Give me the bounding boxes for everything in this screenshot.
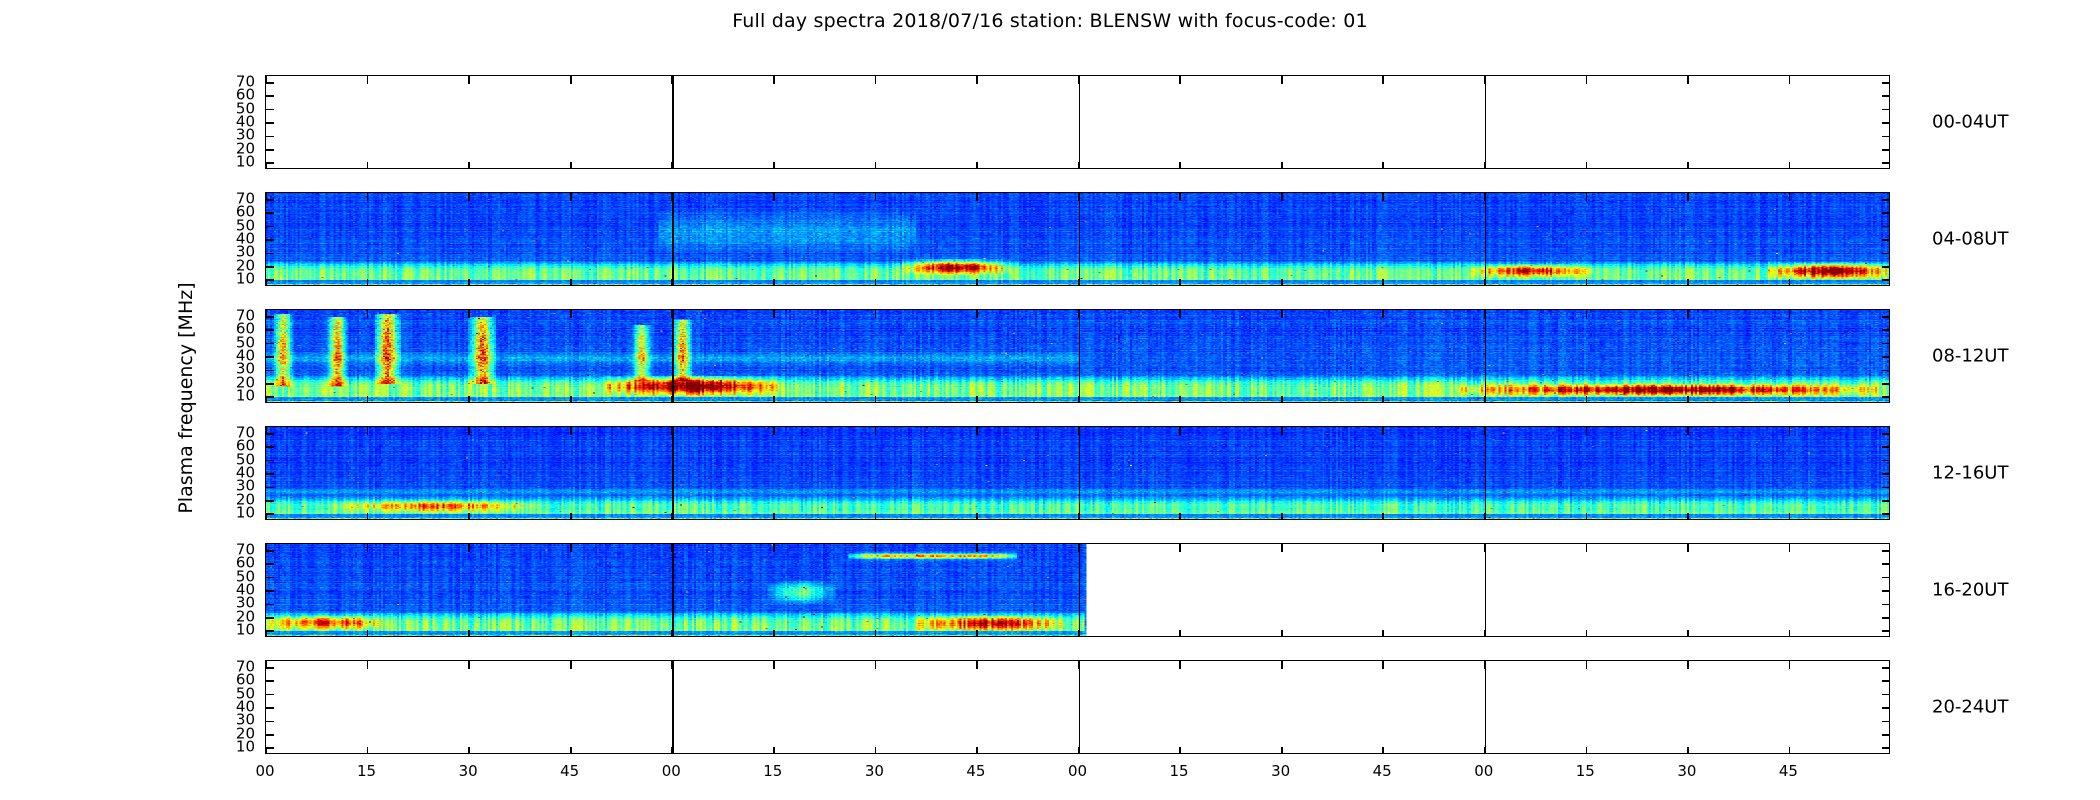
y-axis-tick-labels: 70605040302010 [203, 309, 255, 403]
x-axis-tick [367, 162, 369, 169]
x-axis-tick [570, 162, 572, 169]
grid-line [1485, 76, 1487, 168]
x-axis-tick [1078, 661, 1080, 669]
x-axis-tick [1586, 162, 1588, 169]
row-label-08-12ut: 08-12UT [1932, 346, 2008, 367]
x-axis-tick-label: 15 [763, 762, 782, 780]
x-axis-tick [875, 76, 877, 84]
spectrogram-image [266, 427, 1890, 520]
y-axis-tick [266, 82, 274, 84]
x-axis-tick [265, 76, 267, 84]
x-axis-tick [1687, 76, 1689, 84]
x-axis-tick [671, 162, 673, 169]
y-axis-tick [266, 680, 274, 682]
y-axis-tick [1882, 136, 1890, 138]
y-axis-tick [1882, 122, 1890, 124]
spectrogram-image [266, 544, 1890, 637]
x-axis-tick [367, 747, 369, 754]
y-axis-tick [1882, 149, 1890, 151]
y-axis-tick-label: 10 [236, 155, 255, 170]
spectrogram-panel-16-20ut [265, 543, 1890, 637]
row-label-16-20ut: 16-20UT [1932, 580, 2008, 601]
y-axis-tick-labels: 70605040302010 [203, 543, 255, 637]
y-axis-tick [266, 95, 274, 97]
y-axis-tick-label: 10 [236, 740, 255, 755]
x-axis-tick [1281, 747, 1283, 754]
x-axis-tick [468, 162, 470, 169]
x-axis-tick-labels: 00153045001530450015304500153045 [265, 762, 1890, 784]
x-axis-tick-label: 00 [662, 762, 681, 780]
x-axis-tick [773, 661, 775, 669]
spectrogram-panel-20-24ut [265, 660, 1890, 754]
grid-line [1485, 661, 1487, 753]
x-axis-tick-label: 45 [560, 762, 579, 780]
spectrogram-image [266, 310, 1890, 403]
row-label-00-04ut: 00-04UT [1932, 112, 2008, 133]
y-axis-tick-label: 10 [236, 272, 255, 287]
x-axis-tick [468, 76, 470, 84]
x-axis-tick [1382, 162, 1384, 169]
y-axis-tick [266, 721, 274, 723]
x-axis-tick [875, 747, 877, 754]
x-axis-tick [875, 661, 877, 669]
x-axis-tick [671, 661, 673, 669]
y-axis-tick [266, 162, 274, 164]
y-axis-tick-labels: 70605040302010 [203, 75, 255, 169]
y-axis-tick-labels: 70605040302010 [203, 660, 255, 754]
x-axis-tick [265, 162, 267, 169]
x-axis-tick-label: 00 [255, 762, 274, 780]
page-title: Full day spectra 2018/07/16 station: BLE… [0, 10, 2100, 32]
x-axis-tick [1179, 747, 1181, 754]
x-axis-tick [1789, 76, 1791, 84]
x-axis-tick [367, 76, 369, 84]
x-axis-tick [1586, 747, 1588, 754]
x-axis-tick [1687, 747, 1689, 754]
x-axis-tick [976, 661, 978, 669]
y-axis-tick [266, 734, 274, 736]
x-axis-tick [1586, 76, 1588, 84]
y-axis-tick [266, 122, 274, 124]
x-axis-tick [875, 162, 877, 169]
y-axis-label: Plasma frequency [MHz] [175, 188, 197, 608]
x-axis-tick [468, 661, 470, 669]
x-axis-tick [976, 162, 978, 169]
x-axis-tick [1179, 162, 1181, 169]
y-axis-tick [1882, 109, 1890, 111]
x-axis-tick [1078, 162, 1080, 169]
x-axis-tick [1789, 162, 1791, 169]
x-axis-tick-label: 45 [966, 762, 985, 780]
x-axis-tick [570, 76, 572, 84]
y-axis-tick [1882, 162, 1890, 164]
x-axis-tick [1281, 661, 1283, 669]
y-axis-tick [1882, 707, 1890, 709]
grid-line [672, 76, 674, 168]
x-axis-tick-label: 15 [1576, 762, 1595, 780]
x-axis-tick [976, 76, 978, 84]
x-axis-tick [773, 162, 775, 169]
x-axis-tick [1586, 661, 1588, 669]
x-axis-tick [1484, 747, 1486, 754]
spectrogram-panel-00-04ut [265, 75, 1890, 169]
x-axis-tick [1382, 747, 1384, 754]
x-axis-tick [1382, 76, 1384, 84]
x-axis-tick [468, 747, 470, 754]
y-axis-tick [266, 109, 274, 111]
x-axis-tick [1281, 162, 1283, 169]
y-axis-tick [1882, 721, 1890, 723]
x-axis-tick [1179, 76, 1181, 84]
spectrogram-panel-12-16ut [265, 426, 1890, 520]
x-axis-tick [1687, 661, 1689, 669]
y-axis-tick [1882, 95, 1890, 97]
x-axis-tick [1484, 661, 1486, 669]
y-axis-tick [1882, 82, 1890, 84]
row-label-12-16ut: 12-16UT [1932, 463, 2008, 484]
y-axis-tick [266, 694, 274, 696]
y-axis-tick [1882, 747, 1890, 749]
x-axis-tick [570, 747, 572, 754]
x-axis-tick [671, 76, 673, 84]
y-axis-tick [266, 747, 274, 749]
x-axis-tick [265, 661, 267, 669]
x-axis-tick [1382, 661, 1384, 669]
x-axis-tick-label: 15 [1170, 762, 1189, 780]
x-axis-tick-label: 45 [1779, 762, 1798, 780]
x-axis-tick-label: 00 [1474, 762, 1493, 780]
spectrogram-panel-08-12ut [265, 309, 1890, 403]
x-axis-tick-label: 15 [357, 762, 376, 780]
y-axis-tick-label: 10 [236, 506, 255, 521]
y-axis-tick [1882, 667, 1890, 669]
grid-line [672, 661, 674, 753]
spectrogram-panel-04-08ut [265, 192, 1890, 286]
y-axis-tick-label: 10 [236, 623, 255, 638]
x-axis-tick-label: 30 [1271, 762, 1290, 780]
row-label-20-24ut: 20-24UT [1932, 697, 2008, 718]
x-axis-tick [1789, 661, 1791, 669]
x-axis-tick [1078, 747, 1080, 754]
y-axis-tick-labels: 70605040302010 [203, 192, 255, 286]
x-axis-tick [1484, 76, 1486, 84]
x-axis-tick [1484, 162, 1486, 169]
y-axis-tick [1882, 734, 1890, 736]
x-axis-tick [570, 661, 572, 669]
x-axis-tick [1078, 76, 1080, 84]
x-axis-tick [671, 747, 673, 754]
y-axis-tick [1882, 680, 1890, 682]
x-axis-tick [1789, 747, 1791, 754]
grid-line [1079, 661, 1081, 753]
x-axis-tick-label: 45 [1373, 762, 1392, 780]
y-axis-tick [1882, 694, 1890, 696]
y-axis-tick [266, 667, 274, 669]
row-label-04-08ut: 04-08UT [1932, 229, 2008, 250]
spectrogram-image [266, 193, 1890, 286]
x-axis-tick [1687, 162, 1689, 169]
x-axis-tick-label: 00 [1068, 762, 1087, 780]
x-axis-tick-label: 30 [459, 762, 478, 780]
grid-line [1079, 76, 1081, 168]
x-axis-tick [1281, 76, 1283, 84]
spectrogram-figure: Full day spectra 2018/07/16 station: BLE… [0, 0, 2100, 800]
x-axis-tick-label: 30 [865, 762, 884, 780]
x-axis-tick [773, 76, 775, 84]
y-axis-tick [266, 136, 274, 138]
y-axis-tick-labels: 70605040302010 [203, 426, 255, 520]
y-axis-tick [266, 707, 274, 709]
x-axis-tick [773, 747, 775, 754]
x-axis-tick-label: 30 [1677, 762, 1696, 780]
x-axis-tick [265, 747, 267, 754]
y-axis-tick [266, 149, 274, 151]
x-axis-tick [367, 661, 369, 669]
x-axis-tick [976, 747, 978, 754]
x-axis-tick [1179, 661, 1181, 669]
y-axis-tick-label: 10 [236, 389, 255, 404]
